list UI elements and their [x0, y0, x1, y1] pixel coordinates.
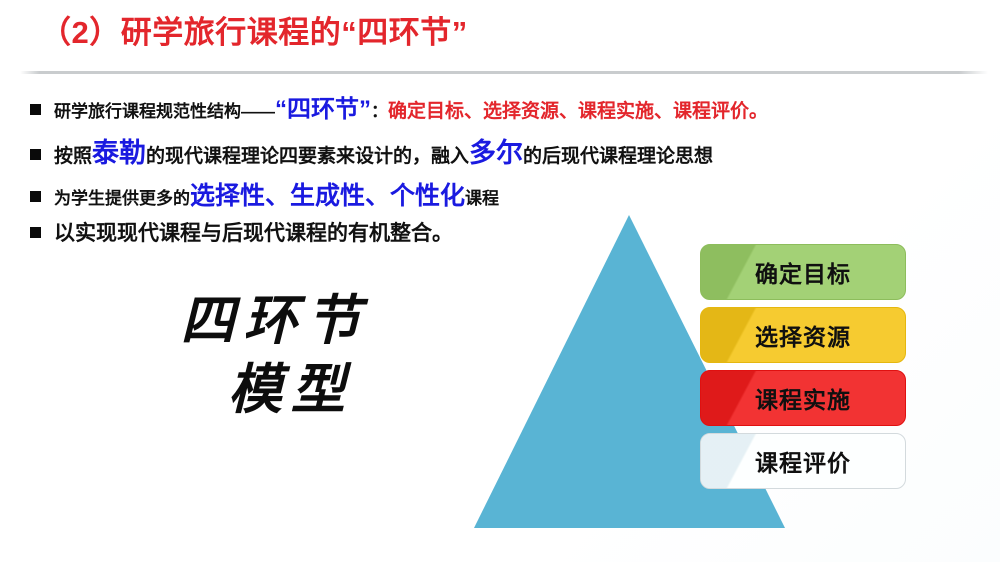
calligraphy-line-2: 模型	[150, 361, 400, 418]
stage-list: 确定目标 选择资源 课程实施 课程评价	[700, 244, 906, 496]
stage-select-resources[interactable]: 选择资源	[700, 307, 906, 363]
bullet-segment: ：	[371, 102, 388, 121]
stage-evaluate-course[interactable]: 课程评价	[700, 433, 906, 489]
bullet-square-icon	[30, 104, 41, 115]
bullet-segment: 的后现代课程理论思想	[523, 146, 713, 167]
bullet-square-icon	[30, 227, 41, 238]
stage-label: 课程实施	[755, 381, 851, 415]
list-item: 为学生提供更多的选择性、生成性、个性化课程	[30, 181, 990, 211]
list-item: 研学旅行课程规范性结构——“四环节”：确定目标、选择资源、课程实施、课程评价。	[30, 96, 990, 125]
stage-label: 课程评价	[755, 444, 851, 478]
slide-canvas: （2）研学旅行课程的“四环节” 研学旅行课程规范性结构——“四环节”：确定目标、…	[0, 0, 1000, 562]
bullet-segment: 的现代课程理论四要素来设计的，融入	[146, 146, 469, 167]
page-title: （2）研学旅行课程的“四环节”	[40, 13, 468, 53]
title-divider	[20, 71, 988, 74]
calligraphy-line-1: 四环节	[150, 292, 400, 349]
bullet-square-icon	[30, 191, 41, 202]
stage-label: 选择资源	[755, 318, 851, 352]
bullet-segment: 研学旅行课程规范性结构——	[54, 102, 275, 121]
bullet-segment-highlight: “四环节”	[275, 96, 371, 123]
bullet-segment-highlight: 泰勒	[92, 138, 146, 168]
stage-label: 确定目标	[755, 255, 851, 289]
calligraphy-block: 四环节 模型	[150, 292, 400, 417]
bullet-text: 按照泰勒的现代课程理论四要素来设计的，融入多尔的后现代课程理论思想	[54, 137, 990, 169]
bullet-segment: 为学生提供更多的	[54, 189, 190, 208]
bullet-segment: 课程	[465, 189, 499, 208]
bullet-text: 为学生提供更多的选择性、生成性、个性化课程	[54, 181, 990, 211]
bullet-square-icon	[30, 149, 41, 160]
stage-implement-course[interactable]: 课程实施	[700, 370, 906, 426]
stage-set-goals[interactable]: 确定目标	[700, 244, 906, 300]
bullet-segment-emphasis: 确定目标、选择资源、课程实施、课程评价。	[388, 101, 768, 122]
list-item: 按照泰勒的现代课程理论四要素来设计的，融入多尔的后现代课程理论思想	[30, 137, 990, 169]
bullet-text: 研学旅行课程规范性结构——“四环节”：确定目标、选择资源、课程实施、课程评价。	[54, 96, 990, 125]
bullet-segment-highlight: 多尔	[469, 138, 523, 168]
bullet-segment-highlight: 选择性、生成性、个性化	[190, 182, 465, 210]
bullet-segment: 按照	[54, 146, 92, 167]
bullet-segment: 以实现现代课程与后现代课程的有机整合。	[54, 222, 453, 245]
